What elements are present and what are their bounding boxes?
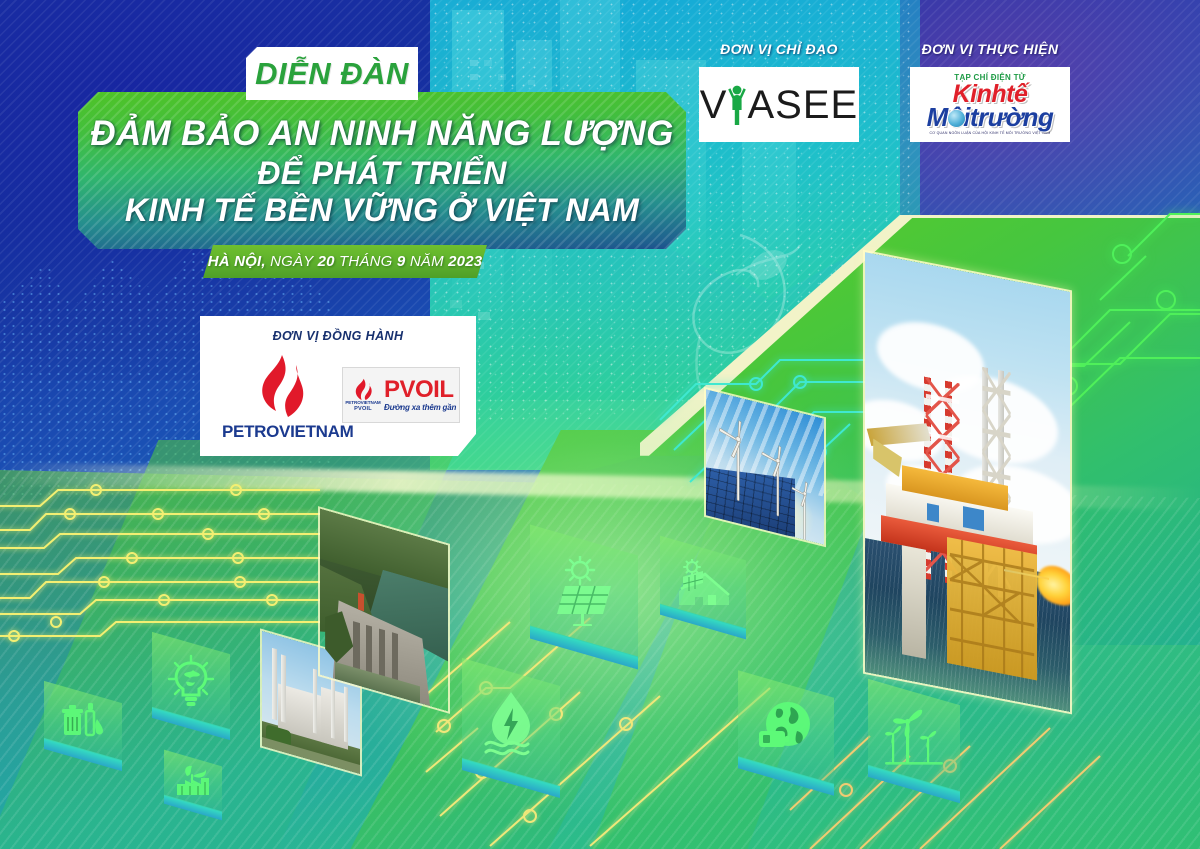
petrovietnam-wordmark: PETROVIETNAM (222, 422, 340, 442)
photo-oil-rig (865, 252, 1070, 712)
title-line-1: ĐẢM BẢO AN NINH NĂNG LƯỢNG (90, 114, 673, 155)
circuit-traces-left (0, 478, 320, 648)
directing-unit-label: ĐƠN VỊ CHỈ ĐẠO (699, 41, 859, 57)
pvoil-wordmark: PVOIL (384, 378, 459, 402)
event-date-text: HÀ NỘI, NGÀY 20 THÁNG 9 NĂM 2023 (208, 253, 483, 270)
executing-unit-label: ĐƠN VỊ THỰC HIỆN (910, 41, 1070, 57)
pvoil-sub-label: PVOIL (343, 406, 383, 412)
forum-badge: DIỄN ĐÀN (246, 47, 418, 100)
kinhte-moitruong-logo: TẠP CHÍ ĐIỆN TỬ Kinhtế Môitrường CƠ QUAN… (910, 67, 1070, 142)
kinhte-fine-print: CƠ QUAN NGÔN LUẬN CỦA HỘI KINH TẾ MÔI TR… (930, 131, 1051, 135)
companion-unit-card: ĐƠN VỊ ĐỒNG HÀNH PETROVIETNAM PETROVIETN… (200, 316, 476, 456)
title-line-3: KINH TẾ BỀN VỮNG Ở VIỆT NAM (125, 192, 639, 229)
viasee-person-icon (727, 83, 747, 127)
viasee-logo: V ASEE (699, 67, 859, 142)
petrovietnam-logo: PETROVIETNAM (222, 354, 340, 444)
petrovietnam-flame-icon (248, 354, 310, 420)
pvoil-flame-icon (352, 378, 374, 400)
event-date-badge: HÀ NỘI, NGÀY 20 THÁNG 9 NĂM 2023 (203, 245, 487, 278)
globe-icon (948, 110, 965, 127)
poster-canvas: ĐƠN VỊ CHỈ ĐẠO V ASEE ĐƠN VỊ THỰC HIỆN T… (0, 0, 1200, 849)
moitruong-wordmark: Môitrường (927, 106, 1054, 130)
pvoil-logo: PETROVIETNAM PVOIL PVOIL Đường xa thêm g… (342, 367, 460, 423)
forum-badge-label: DIỄN ĐÀN (255, 58, 409, 89)
viasee-letter-v: V (700, 85, 728, 125)
companion-unit-label: ĐƠN VỊ ĐỒNG HÀNH (200, 329, 476, 343)
viasee-letters-asee: ASEE (747, 85, 858, 125)
title-line-2: ĐỂ PHÁT TRIỂN (257, 155, 506, 192)
pvoil-slogan: Đường xa thêm gần (384, 403, 459, 412)
page-title: ĐẢM BẢO AN NINH NĂNG LƯỢNG ĐỂ PHÁT TRIỂN… (78, 92, 686, 249)
